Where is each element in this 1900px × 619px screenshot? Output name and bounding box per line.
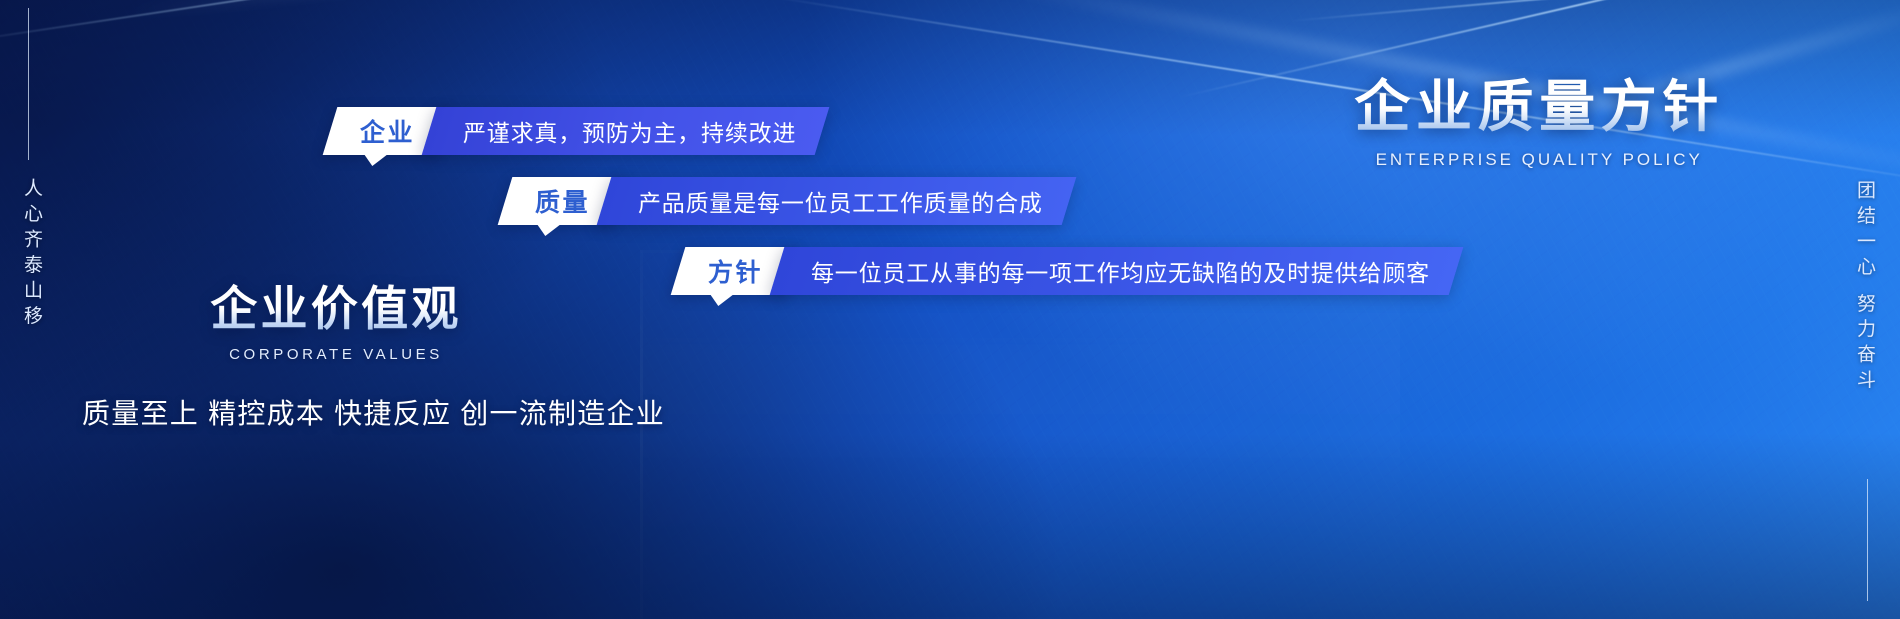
policy-row-body-1: 严谨求真，预防为主，持续改进 (422, 107, 830, 155)
policy-row-body-3: 每一位员工从事的每一项工作均应无缺陷的及时提供给顾客 (770, 247, 1464, 295)
policy-row-quality: 质量 产品质量是每一位员工工作质量的合成 (505, 177, 1069, 225)
left-vertical-motto: 人心齐泰山移 (18, 178, 45, 331)
quality-policy-title-cn: 企业质量方针 (1354, 76, 1724, 139)
policy-row-enterprise: 企业 严谨求真，预防为主，持续改进 (330, 107, 822, 155)
label-notch-icon-1 (361, 155, 386, 166)
corporate-values-heading: 企业价值观 CORPORATE VALUES (196, 282, 476, 363)
right-vertical-motto: 团结一心 努力奋斗 (1851, 180, 1878, 395)
policy-row-body-text-1: 严谨求真，预防为主，持续改进 (463, 114, 796, 148)
corporate-values-title-en: CORPORATE VALUES (196, 346, 476, 363)
policy-row-label-text-1: 企业 (360, 113, 415, 149)
policy-row-label-text-3: 方针 (708, 253, 763, 289)
label-notch-icon-3 (707, 295, 732, 306)
policy-row-body-text-3: 每一位员工从事的每一项工作均应无缺陷的及时提供给顾客 (811, 254, 1430, 288)
corporate-values-tagline: 质量至上 精控成本 快捷反应 创一流制造企业 (82, 392, 665, 432)
policy-row-label-text-2: 质量 (535, 183, 590, 219)
policy-row-body-2: 产品质量是每一位员工工作质量的合成 (597, 177, 1076, 225)
right-vertical-rule (1867, 479, 1868, 601)
policy-row-guideline: 方针 每一位员工从事的每一项工作均应无缺陷的及时提供给顾客 (678, 247, 1456, 295)
banner-canvas: 人心齐泰山移 团结一心 努力奋斗 企业质量方针 ENTERPRISE QUALI… (0, 0, 1900, 619)
label-notch-icon-2 (534, 225, 559, 236)
quality-policy-heading: 企业质量方针 ENTERPRISE QUALITY POLICY (1354, 76, 1724, 170)
left-vertical-rule (28, 8, 29, 160)
policy-row-body-text-2: 产品质量是每一位员工工作质量的合成 (638, 184, 1043, 218)
quality-policy-title-en: ENTERPRISE QUALITY POLICY (1354, 150, 1724, 170)
corporate-values-title-cn: 企业价值观 (196, 282, 476, 336)
